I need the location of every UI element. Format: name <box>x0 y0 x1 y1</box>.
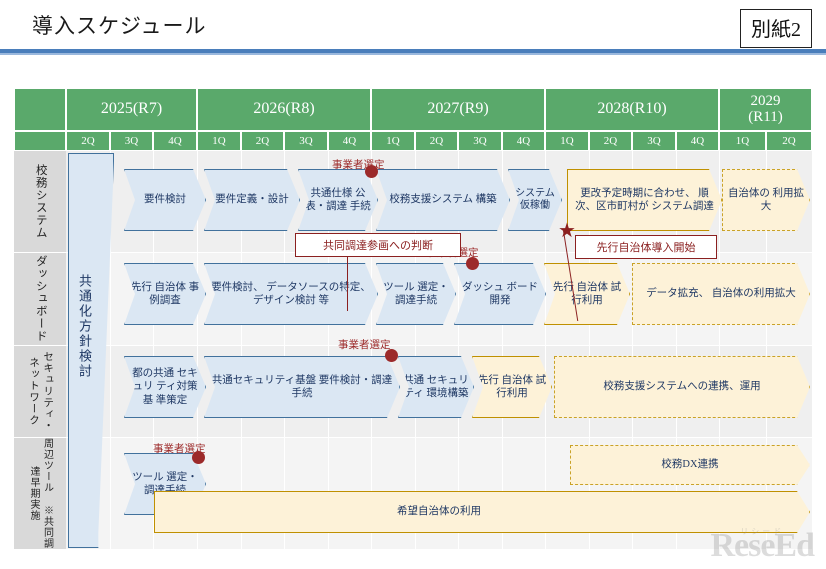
year-header-2028: 2028(R10) <box>545 88 719 131</box>
quarter-cell-16: 2Q <box>766 131 812 151</box>
quarter-cell-1: 3Q <box>110 131 153 151</box>
quarter-cell-12: 2Q <box>589 131 632 151</box>
year-header-2026: 2026(R8) <box>197 88 371 131</box>
quarter-cell-5: 3Q <box>284 131 328 151</box>
task-r2-requirements-datasource-design[interactable]: 要件検討、 データソースの特定、 デザイン検討 等 <box>204 263 378 325</box>
timeline-year-header: 2025(R7) 2026(R8) 2027(R9) 2028(R10) 202… <box>14 88 812 131</box>
callout-leader-line <box>347 249 348 311</box>
task-r1-requirements-study[interactable]: 要件検討 <box>124 169 206 231</box>
quarter-cell-9: 3Q <box>458 131 502 151</box>
header-corner-cell <box>14 88 66 131</box>
page-title: 導入スケジュール <box>32 10 207 40</box>
sheet-badge: 別紙2 <box>740 9 812 48</box>
year-header-2025: 2025(R7) <box>66 88 197 131</box>
marker-dot-vendor-selection-r1 <box>365 165 378 178</box>
task-r1-municipality-usage-expansion[interactable]: 自治体の 利用拡大 <box>722 169 810 231</box>
callout-joint-procurement-decision: 共同調達参画への判断 <box>295 233 461 257</box>
callout-leading-municipality-start: 先行自治体導入開始 <box>575 235 717 259</box>
task-r4-school-dx-integration[interactable]: 校務DX連携 <box>570 445 810 485</box>
quarter-corner-cell <box>14 131 66 151</box>
quarter-cell-3: 1Q <box>197 131 241 151</box>
row-label-school-system: 校務システム <box>14 151 66 253</box>
row-label-peripheral-tools: 周辺ツール ※共同調達早期実施 <box>14 438 66 550</box>
quarter-cell-2: 4Q <box>153 131 197 151</box>
quarter-cell-7: 1Q <box>371 131 415 151</box>
row-label-security-network: セキュリティ・ネットワーク <box>14 346 66 438</box>
year-header-2029: 2029 (R11) <box>719 88 812 131</box>
task-r3-common-security-platform-procurement[interactable]: 共通セキュリティ基盤 要件検討・調達手続 <box>204 356 400 418</box>
gridline <box>719 151 720 550</box>
task-r1-requirements-definition-design[interactable]: 要件定義・設計 <box>204 169 300 231</box>
task-r2-tool-selection-procurement[interactable]: ツール 選定・ 調達手続 <box>376 263 456 325</box>
watermark-reseed: リシード ReseEd <box>710 526 814 565</box>
quarter-cell-11: 1Q <box>545 131 589 151</box>
task-r3-tokyo-security-standard[interactable]: 都の共通 セキュリ ティ対策基 準策定 <box>124 356 206 418</box>
marker-dot-vendor-selection-r4 <box>192 451 205 464</box>
quarter-cell-8: 2Q <box>415 131 458 151</box>
task-r2-dashboard-development[interactable]: ダッシュ ボード 開発 <box>454 263 546 325</box>
task-r3-school-support-integration-operation[interactable]: 校務支援システムへの連携、運用 <box>554 356 810 418</box>
marker-dot-vendor-selection-r3 <box>385 349 398 362</box>
task-r1-common-spec-procurement[interactable]: 共通仕様 公表・調達 手続 <box>298 169 378 231</box>
year-header-2027: 2027(R9) <box>371 88 545 131</box>
task-r3-common-security-environment-build[interactable]: 共通 セキュリ ティ 環境構築 <box>398 356 474 418</box>
quarter-cell-10: 4Q <box>502 131 545 151</box>
task-r3-leading-municipality-trial-use[interactable]: 先行 自治体 試行利用 <box>472 356 552 418</box>
row-label-dashboard: ダッシュボード <box>14 253 66 346</box>
timeline-quarter-header: 2Q 3Q 4Q 1Q 2Q 3Q 4Q 1Q 2Q 3Q 4Q 1Q 2Q 3… <box>14 131 812 151</box>
schedule-chart: 2025(R7) 2026(R8) 2027(R9) 2028(R10) 202… <box>14 88 812 550</box>
quarter-cell-13: 3Q <box>632 131 676 151</box>
marker-label-vendor-selection-r3: 事業者選定 <box>338 337 391 352</box>
task-r2-leading-municipality-case-study[interactable]: 先行 自治体 事例調査 <box>124 263 206 325</box>
task-r1-municipal-system-procurement[interactable]: 更改予定時期に合わせ、 順次、区市町村が システム調達 <box>567 169 722 231</box>
quarter-cell-6: 4Q <box>328 131 371 151</box>
marker-dot-vendor-selection-r2 <box>466 257 479 270</box>
task-r2-data-expansion-usage-growth[interactable]: データ拡充、 自治体の利用拡大 <box>632 263 810 325</box>
policy-review-label: 共通化方針検討 <box>75 274 94 379</box>
title-divider-light <box>0 53 826 55</box>
quarter-cell-0: 2Q <box>66 131 110 151</box>
schedule-body: 校務システム ダッシュボード セキュリティ・ネットワーク 周辺ツール ※共同調達… <box>14 151 812 550</box>
watermark-label: ReseEd <box>710 527 814 564</box>
quarter-cell-15: 1Q <box>719 131 766 151</box>
quarter-cell-14: 4Q <box>676 131 719 151</box>
task-r1-school-support-system-build[interactable]: 校務支援システム 構築 <box>376 169 510 231</box>
quarter-cell-4: 2Q <box>241 131 284 151</box>
